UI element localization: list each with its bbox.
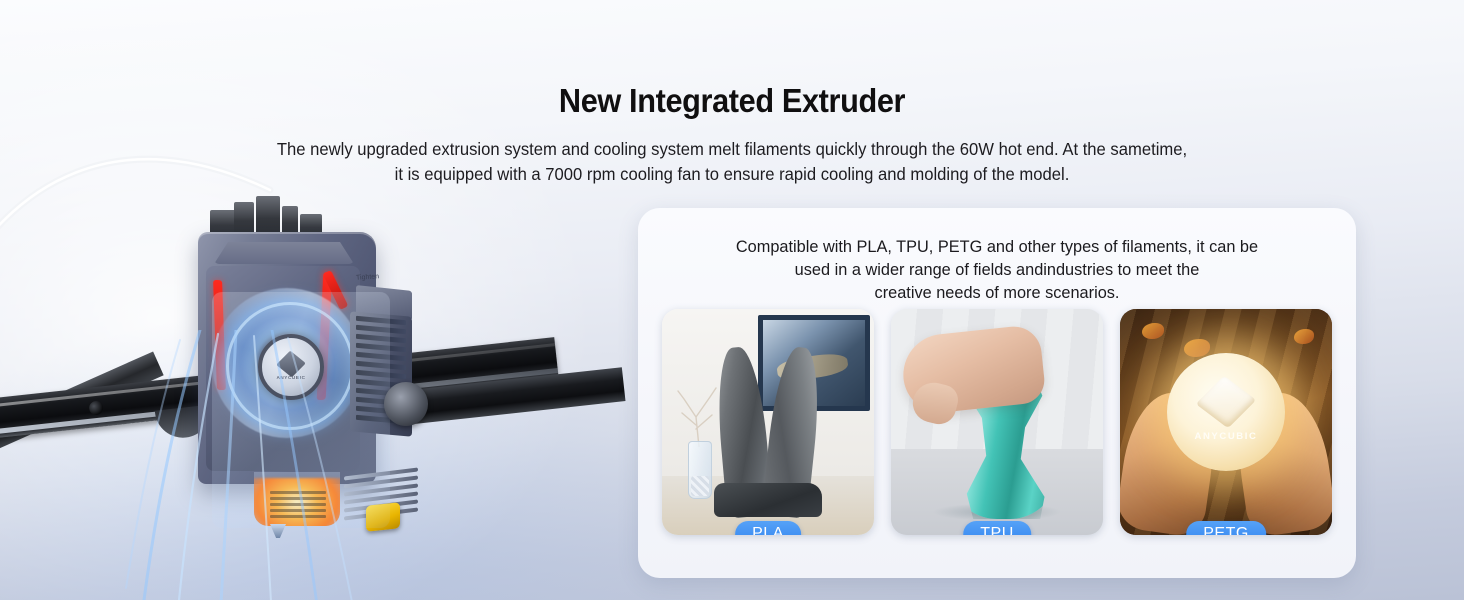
rail-screw bbox=[88, 400, 103, 415]
sculpture-base bbox=[714, 483, 822, 517]
sample-thumb-pla[interactable]: PLA bbox=[662, 309, 874, 535]
product-photo-extruder: ANYCUBIC Tighten bbox=[0, 0, 660, 600]
promo-banner: New Integrated Extruder The newly upgrad… bbox=[0, 0, 1464, 600]
badge-petg: PETG bbox=[1186, 521, 1266, 535]
extruder-assembly: ANYCUBIC Tighten bbox=[188, 196, 438, 526]
nozzle-tip bbox=[270, 524, 286, 538]
fan-hub-brand-badge: ANYCUBIC bbox=[258, 334, 324, 400]
filament-compatibility-card: Compatible with PLA, TPU, PETG and other… bbox=[638, 208, 1356, 578]
hot-end bbox=[254, 472, 340, 526]
badge-pla: PLA bbox=[735, 521, 801, 535]
filament-sample-gallery: PLA TPU bbox=[662, 309, 1332, 554]
pla-glass-vase bbox=[688, 441, 712, 499]
pla-hands-sculpture bbox=[716, 341, 820, 517]
moon-lamp-brand: ANYCUBIC bbox=[1195, 431, 1258, 442]
anycubic-diamond-icon bbox=[276, 351, 306, 378]
card-text-line-2: used in a wider range of fields andindus… bbox=[708, 258, 1286, 281]
petg-moon-lamp: ANYCUBIC bbox=[1167, 353, 1285, 471]
yellow-adjustment-knob bbox=[366, 502, 400, 532]
sample-thumb-petg[interactable]: ANYCUBIC PETG bbox=[1120, 309, 1332, 535]
anycubic-diamond-icon bbox=[1196, 376, 1257, 429]
sample-thumb-tpu[interactable]: TPU bbox=[891, 309, 1103, 535]
card-text-line-1: Compatible with PLA, TPU, PETG and other… bbox=[708, 235, 1286, 258]
hot-end-fins bbox=[270, 488, 326, 522]
card-description: Compatible with PLA, TPU, PETG and other… bbox=[652, 208, 1341, 304]
tighten-label: Tighten bbox=[356, 273, 380, 282]
extruder-housing: ANYCUBIC Tighten bbox=[198, 232, 376, 484]
carriage-wheel bbox=[384, 382, 428, 426]
card-text-line-3: creative needs of more scenarios. bbox=[708, 281, 1286, 304]
housing-top-bevel bbox=[214, 242, 354, 264]
badge-tpu: TPU bbox=[963, 521, 1031, 535]
